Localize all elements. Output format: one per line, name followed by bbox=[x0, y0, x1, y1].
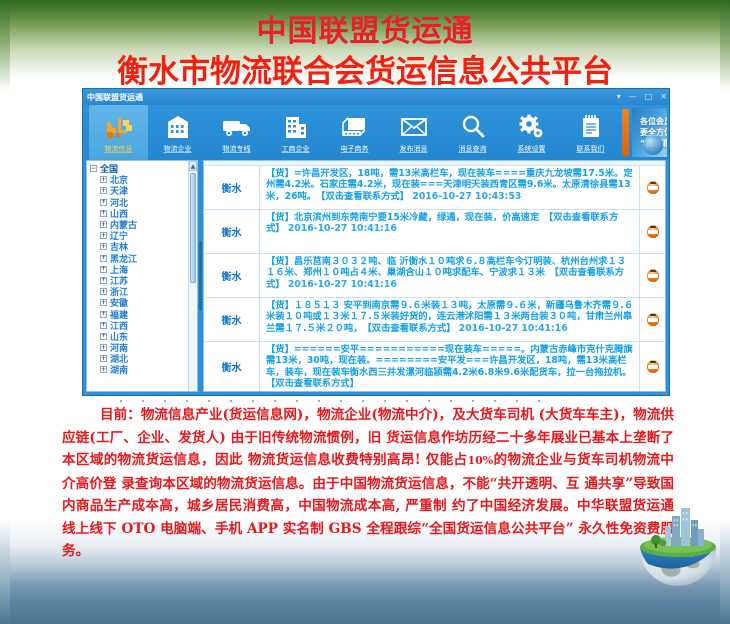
page-title-line-2: 衡水市物流联合会货运信息公共平台 bbox=[0, 52, 730, 92]
toolbar-item-wuliuqiye[interactable]: 物流企业 bbox=[148, 105, 207, 160]
tree-node-16[interactable]: +湖北 bbox=[90, 353, 197, 364]
tree-node-10[interactable]: +浙江 bbox=[90, 286, 197, 297]
envelope-icon bbox=[399, 112, 429, 142]
message-grid: 衡水【货】=许昌开发区，18吨，需13米高栏车，现在装车====重庆九龙坡需17… bbox=[203, 160, 666, 392]
expand-icon[interactable]: + bbox=[100, 255, 107, 262]
main-toolbar: 物流信息 物流企业 bbox=[83, 105, 669, 160]
qq-contact-icon[interactable] bbox=[647, 360, 659, 373]
window-titlebar: 中国联盟货运通 ▾ — □ ✕ bbox=[83, 89, 669, 105]
table-row[interactable]: 衡水【货】昌乐莒南３０３２吨、临 沂衡水１０吨求６.８高栏车今订明装、杭州台州求… bbox=[204, 254, 665, 298]
expand-icon[interactable]: + bbox=[100, 176, 107, 183]
window-title: 中国联盟货运通 bbox=[87, 92, 143, 103]
dropdown-icon[interactable]: ▾ bbox=[617, 92, 621, 102]
expand-icon[interactable]: + bbox=[100, 210, 107, 217]
qq-contact-icon[interactable] bbox=[647, 225, 659, 238]
minimize-icon[interactable]: — bbox=[629, 92, 637, 102]
close-icon[interactable]: ✕ bbox=[660, 92, 667, 102]
tree-node-12[interactable]: +福建 bbox=[90, 308, 197, 319]
table-row[interactable]: 衡水【货】１８５１３ 安平到南京需９.６米装１３吨，太原需９.６米，新疆乌鲁木齐… bbox=[204, 298, 665, 342]
tree-node-7[interactable]: +黑龙江 bbox=[90, 253, 197, 264]
table-row[interactable]: 衡水【货】北京滨州到东莞南宁要15米冷藏，绿通，现在装，价高速定 【双击查看联系… bbox=[204, 210, 665, 254]
toolbar-item-gongshangqiye[interactable]: 工商企业 bbox=[266, 105, 325, 160]
row-message: 【货】北京滨州到东莞南宁要15米冷藏，绿通，现在装，价高速定 【双击查看联系方式… bbox=[260, 210, 639, 253]
tree-node-13[interactable]: +江西 bbox=[90, 320, 197, 331]
application-window: 中国联盟货运通 ▾ — □ ✕ 物流信息 bbox=[82, 88, 670, 396]
expand-icon[interactable]: + bbox=[100, 355, 107, 362]
tree-node-9[interactable]: +江苏 bbox=[90, 275, 197, 286]
promo-percent: 10% bbox=[467, 454, 493, 467]
tree-node-5[interactable]: +辽宁 bbox=[90, 230, 197, 241]
row-action[interactable] bbox=[639, 298, 665, 341]
row-city: 衡水 bbox=[204, 254, 260, 297]
expand-icon[interactable]: + bbox=[100, 322, 107, 329]
expand-icon[interactable]: + bbox=[100, 288, 107, 295]
toolbar-label: 物流企业 bbox=[164, 144, 192, 154]
scrollbar-thumb[interactable] bbox=[190, 173, 196, 283]
qq-contact-icon[interactable] bbox=[647, 269, 659, 282]
window-controls: ▾ — □ ✕ bbox=[617, 89, 667, 105]
expand-icon[interactable]: + bbox=[100, 311, 107, 318]
earth-city-graphic bbox=[632, 502, 724, 606]
row-message-text: 【货】======安平===========现在装车=====。内蒙古赤峰市克什… bbox=[266, 344, 636, 389]
row-action[interactable] bbox=[639, 254, 665, 297]
row-timestamp: 2016-10-27 10:43:53 bbox=[412, 191, 521, 202]
row-message: 【货】=许昌开发区，18吨，需13米高栏车，现在装车====重庆九龙坡需17.5… bbox=[260, 166, 639, 209]
toolbar-label: 联系我们 bbox=[577, 144, 605, 154]
building-icon bbox=[164, 112, 192, 142]
tree-node-11[interactable]: +安徽 bbox=[90, 297, 197, 308]
notebook-icon bbox=[579, 112, 603, 142]
row-city: 衡水 bbox=[204, 210, 260, 253]
expand-icon[interactable]: + bbox=[100, 344, 107, 351]
tree-children: +北京+天津+河北+山西+内蒙古+辽宁+吉林+黑龙江+上海+江苏+浙江+安徽+福… bbox=[90, 174, 197, 375]
ad-banner-line-1: 各位会员 bbox=[640, 116, 667, 127]
expand-icon[interactable]: + bbox=[100, 277, 107, 284]
row-message-text: 【货】１８５１３ 安平到南京需９.６米装１３吨，太原需９.６米，新疆乌鲁木齐需９… bbox=[266, 300, 633, 334]
row-message: 【货】昌乐莒南３０３２吨、临 沂衡水１０吨求６.８高栏车今订明装、杭州台州求１３… bbox=[260, 254, 639, 297]
sidebar-scrollbar[interactable]: ▲ bbox=[188, 161, 197, 391]
tree-node-1[interactable]: +天津 bbox=[90, 185, 197, 196]
region-tree-sidebar: − 全国 +北京+天津+河北+山西+内蒙古+辽宁+吉林+黑龙江+上海+江苏+浙江… bbox=[86, 160, 198, 392]
toolbar-item-dianzishangwu[interactable]: 电子商务 bbox=[325, 105, 384, 160]
page-title-block: 中国联盟货运通 衡水市物流联合会货运信息公共平台 bbox=[0, 14, 730, 92]
expand-icon[interactable]: + bbox=[100, 187, 107, 194]
row-city: 衡水 bbox=[204, 298, 260, 341]
truck-icon bbox=[221, 112, 253, 142]
tree-node-0[interactable]: +北京 bbox=[90, 174, 197, 185]
row-message: 【货】======安平===========现在装车=====。内蒙古赤峰市克什… bbox=[260, 342, 639, 392]
toolbar-item-wuliuzhuanxian[interactable]: 物流专线 bbox=[207, 105, 266, 160]
window-body: − 全国 +北京+天津+河北+山西+内蒙古+辽宁+吉林+黑龙江+上海+江苏+浙江… bbox=[83, 160, 669, 395]
forklift-icon bbox=[104, 112, 134, 142]
qq-contact-icon[interactable] bbox=[647, 181, 659, 194]
promo-line-1: 目前：物流信息产业(货运信息网)，物流企业(物流中介)，及大货车司机 bbox=[100, 407, 534, 423]
grid-rows: 衡水【货】=许昌开发区，18吨，需13米高栏车，现在装车====重庆九龙坡需17… bbox=[204, 166, 665, 392]
expand-icon[interactable]: + bbox=[100, 243, 107, 250]
table-row[interactable]: 衡水【货】======安平===========现在装车=====。内蒙古赤峰市… bbox=[204, 342, 665, 392]
expand-icon[interactable]: + bbox=[100, 199, 107, 206]
region-tree: − 全国 +北京+天津+河北+山西+内蒙古+辽宁+吉林+黑龙江+上海+江苏+浙江… bbox=[87, 161, 197, 376]
row-timestamp: 2016-10-27 10:41:16 bbox=[288, 223, 397, 234]
toolbar-label: 发布消息 bbox=[400, 144, 428, 154]
toolbar-label: 系统设置 bbox=[518, 144, 546, 154]
globe-icon bbox=[643, 135, 663, 155]
row-city: 衡水 bbox=[204, 342, 260, 392]
tree-node-2[interactable]: +河北 bbox=[90, 197, 197, 208]
toolbar-orange-divider bbox=[622, 109, 629, 156]
gear-icon bbox=[518, 112, 546, 142]
promo-line-4a: 物流货运信息收费特别高昂! 仅能占 bbox=[248, 452, 468, 468]
page-title-line-1: 中国联盟货运通 bbox=[0, 14, 730, 50]
toolbar-item-fabuxiaoxi[interactable]: 发布消息 bbox=[384, 105, 443, 160]
tree-node-3[interactable]: +山西 bbox=[90, 208, 197, 219]
tree-node-root[interactable]: − 全国 bbox=[90, 163, 197, 174]
toolbar-label: 工商企业 bbox=[282, 144, 310, 154]
search-icon bbox=[460, 112, 486, 142]
toolbar-item-xiaoxichaxun[interactable]: 消息查询 bbox=[443, 105, 502, 160]
toolbar-item-xitongshezhi[interactable]: 系统设置 bbox=[502, 105, 561, 160]
row-timestamp: 2016-10-27 10:41:16 bbox=[288, 279, 397, 290]
table-row[interactable]: 衡水【货】=许昌开发区，18吨，需13米高栏车，现在装车====重庆九龙坡需17… bbox=[204, 166, 665, 210]
toolbar-label: 消息查询 bbox=[459, 144, 487, 154]
row-city: 衡水 bbox=[204, 166, 260, 209]
row-action[interactable] bbox=[639, 210, 665, 253]
ecommerce-icon bbox=[340, 112, 370, 142]
page-left-edge bbox=[0, 0, 10, 624]
expand-icon[interactable]: + bbox=[100, 232, 107, 239]
row-action[interactable] bbox=[639, 342, 665, 392]
toolbar-label: 电子商务 bbox=[341, 144, 369, 154]
scroll-up-icon[interactable]: ▲ bbox=[189, 161, 197, 171]
office-icon bbox=[282, 112, 310, 142]
tree-node-14[interactable]: +山东 bbox=[90, 331, 197, 342]
tree-node-6[interactable]: +吉林 bbox=[90, 241, 197, 252]
collapse-icon[interactable]: − bbox=[90, 165, 97, 172]
expand-icon[interactable]: + bbox=[100, 299, 107, 306]
toolbar-item-lianxiwomen[interactable]: 联系我们 bbox=[561, 105, 620, 160]
row-action[interactable] bbox=[639, 166, 665, 209]
expand-icon[interactable]: + bbox=[100, 333, 107, 340]
toolbar-label: 物流专线 bbox=[223, 144, 251, 154]
tree-node-4[interactable]: +内蒙古 bbox=[90, 219, 197, 230]
qq-contact-icon[interactable] bbox=[647, 313, 659, 326]
tree-node-8[interactable]: +上海 bbox=[90, 264, 197, 275]
maximize-icon[interactable]: □ bbox=[645, 92, 653, 102]
expand-icon[interactable]: + bbox=[100, 221, 107, 228]
row-timestamp: 2016-10-27 10:41:16 bbox=[459, 323, 568, 334]
tree-node-label: 湖南 bbox=[110, 363, 128, 376]
expand-icon[interactable]: + bbox=[100, 366, 107, 373]
tree-node-17[interactable]: +湖南 bbox=[90, 364, 197, 375]
tree-node-15[interactable]: +河南 bbox=[90, 342, 197, 353]
toolbar-label: 物流信息 bbox=[105, 144, 133, 154]
promo-paragraph: 目前：物流信息产业(货运信息网)，物流企业(物流中介)，及大货车司机 (大货车车… bbox=[62, 404, 674, 563]
divider-grip[interactable] bbox=[199, 241, 202, 311]
row-message: 【货】１８５１３ 安平到南京需９.６米装１３吨，太原需９.６米，新疆乌鲁木齐需９… bbox=[260, 298, 639, 341]
toolbar-item-wuliuxinxi[interactable]: 物流信息 bbox=[89, 105, 148, 160]
promo-line-5: 录查询本区域的物流货运信息。由于中国物流货运信息，不能“共开透明、互 bbox=[121, 476, 579, 492]
expand-icon[interactable]: + bbox=[100, 266, 107, 273]
ad-banner[interactable]: 各位会员 要全方位测试 “货运通”功能！ bbox=[632, 108, 667, 157]
